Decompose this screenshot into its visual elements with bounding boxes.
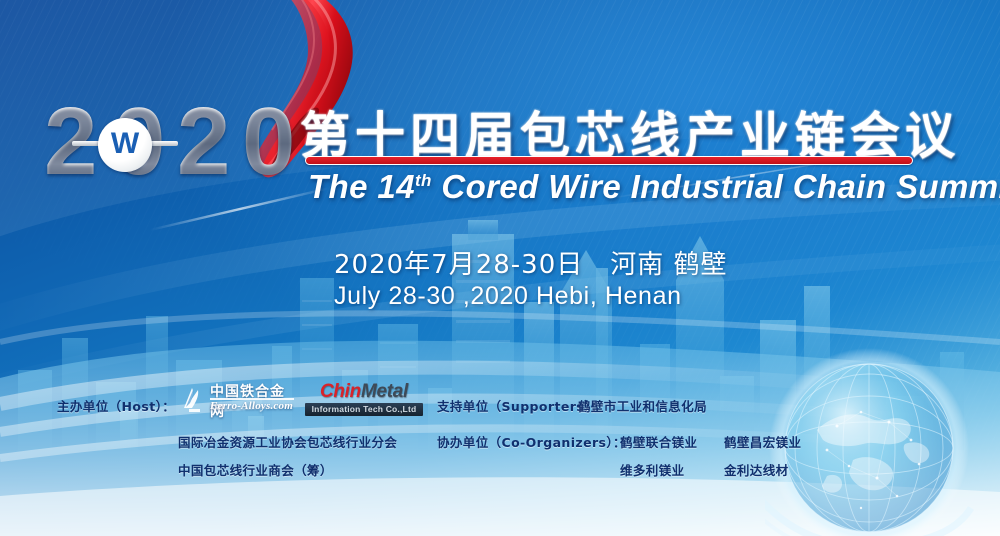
ferro-alloys-logo: 中国铁合金网 Ferro-Alloys.com [180,380,294,418]
chinmetal-name-part1: Chin [320,381,361,402]
w-medallion-bar-right [148,141,178,146]
w-medallion: W [98,118,152,172]
title-red-rule [305,156,913,165]
title-english-ordinal-suffix: th [415,171,432,190]
title-english: The 14th Cored Wire Industrial Chain Sum… [308,168,1000,206]
globe-graphic [765,348,980,536]
chinmetal-tagline: Information Tech Co.,Ltd [305,403,423,416]
date-location-chinese: 2020年7月28-30日 河南 鹤壁 [334,244,728,281]
title-english-prefix: The 14 [308,168,415,205]
ferro-alloys-domain: Ferro-Alloys.com [210,400,293,412]
ferro-alloys-mark-icon [180,384,210,414]
chinmetal-logo: ChinMetal Information Tech Co.,Ltd [305,381,423,417]
date-location-english: July 28-30 ,2020 Hebi, Henan [334,282,682,311]
year-digit-3: 2 [177,96,230,188]
conference-banner: 2 0 2 0 W 第十四届包芯线产业链会议 The 14th Cored Wi… [0,0,1000,536]
chinmetal-name-part2: Metal [361,381,408,402]
chinmetal-wordmark: ChinMetal [305,381,423,402]
w-medallion-letter: W [111,129,139,159]
year-digit-4: 0 [242,96,295,188]
title-english-rest: Cored Wire Industrial Chain Summit [432,168,1000,205]
